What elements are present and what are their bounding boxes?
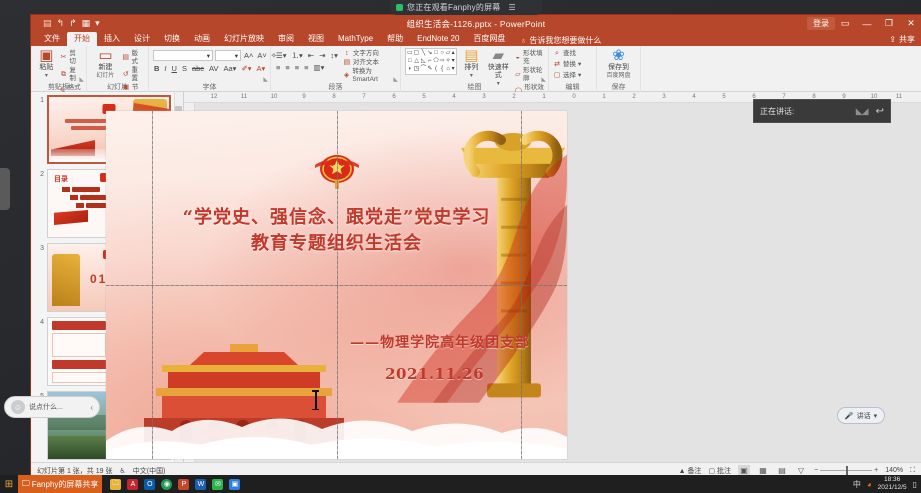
shape-square-icon: □	[433, 50, 438, 57]
chevron-down-icon[interactable]: ▾	[470, 73, 473, 80]
find-button[interactable]: ⌕查找	[553, 50, 581, 58]
tab-endnote[interactable]: EndNote 20	[410, 32, 466, 46]
windows-taskbar[interactable]: ⊞ 🖵 Fanphy的屏幕共享 🗀 A O ◉ P W ✉ ▣ 中 ◕ 18:3…	[0, 475, 921, 493]
tab-review[interactable]: 审阅	[271, 32, 301, 46]
shape-lshape-icon: ⌐	[427, 58, 432, 65]
lightbulb-icon: ♁	[520, 36, 526, 45]
accessibility-icon[interactable]: ♿	[119, 467, 125, 475]
ruler-tick: 4	[692, 94, 695, 100]
tab-help[interactable]: 帮助	[380, 32, 410, 46]
ruler-tick: 11	[241, 94, 247, 100]
copy-icon: ⧉	[60, 71, 68, 79]
shape-box-icon: □	[407, 58, 413, 65]
ruler-tick: 2	[632, 94, 635, 100]
bullets-button[interactable]: ☰▾	[275, 51, 288, 60]
comments-label: 批注	[717, 468, 731, 475]
paste-label: 粘贴	[39, 64, 53, 72]
ribbon-group-drawing: ▭▢╲ ↘□○ ▱▴ □△◺ ⌐⬠⇨ ✧▾ ◗◳⌒ ✎({ ⌂▾ ▤ 排列 ▾	[401, 46, 549, 92]
microphone-icon: 🎤	[845, 412, 854, 420]
ruler-tick: 7	[362, 94, 365, 100]
new-slide-label2: 幻灯片	[96, 73, 114, 80]
ribbon: ▣ 粘贴 ▾ ✂剪切 ⧉复制 ✎格式刷 剪贴板 ◣ ▭	[31, 46, 921, 92]
save-icon[interactable]: ▤	[43, 19, 52, 28]
convert-smartart-button[interactable]: ◈转换为 SmartArt	[343, 68, 396, 84]
title-bar: ▤ ↰ ↱ ▦ ▾ 组织生活会-1126.pptx - PowerPoint 登…	[31, 15, 921, 32]
ruler-tick: 0	[572, 94, 575, 100]
italic-button[interactable]: I	[163, 64, 167, 73]
align-left-button[interactable]: ≡	[275, 63, 281, 72]
group-label-editing: 编辑	[549, 83, 596, 92]
guide-vertical	[152, 111, 153, 459]
file-explorer-icon[interactable]: 🗀	[110, 479, 121, 490]
word-icon[interactable]: W	[195, 479, 206, 490]
font-name-combo[interactable]: ▾	[153, 50, 213, 61]
screen-share-banner[interactable]: 您正在观看Fanphy的屏幕 ☰	[390, 0, 542, 15]
ruler-tick: 5	[722, 94, 725, 100]
thumbnail-heading: 01	[90, 272, 107, 286]
chevron-down-icon[interactable]: ▾	[95, 19, 100, 28]
tab-animations[interactable]: 动画	[187, 32, 217, 46]
user-avatar: ☺	[11, 400, 25, 414]
scroll-up-icon: ▴	[452, 50, 455, 57]
text-direction-label: 文字方向	[353, 50, 379, 58]
tab-file[interactable]: 文件	[37, 32, 67, 46]
cut-label: 剪切	[69, 50, 82, 66]
group-label-font: 字体	[149, 83, 270, 92]
ruler-tick: 4	[452, 94, 455, 100]
reset-icon: ↺	[122, 71, 130, 79]
chevron-icon[interactable]: ▾	[874, 412, 878, 420]
reset-button[interactable]: ↺重置	[122, 67, 144, 83]
speaking-panel[interactable]: 正在讲话: ◣◢ ↩	[753, 99, 891, 123]
chat-placeholder: 说点什么...	[29, 402, 63, 412]
ruler-tick: 3	[482, 94, 485, 100]
layout-button[interactable]: ▤版式	[122, 50, 144, 66]
shape-rect-icon: ▭	[407, 50, 413, 57]
quick-styles-label: 快速样式	[486, 64, 511, 80]
group-label-drawing: 绘图	[401, 83, 548, 92]
window-title: 组织生活会-1126.pptx - PowerPoint	[31, 18, 921, 30]
tab-design[interactable]: 设计	[127, 32, 157, 46]
chrome-icon[interactable]: ◉	[161, 479, 172, 490]
shape-brace-icon: {	[440, 66, 445, 73]
taskbar-item-screen-share[interactable]: 🖵 Fanphy的屏幕共享	[18, 475, 102, 493]
taskbar-item-label: Fanphy的屏幕共享	[32, 479, 99, 490]
chevron-down-icon[interactable]: ▾	[235, 52, 238, 60]
powerpoint-window: ▤ ↰ ↱ ▦ ▾ 组织生活会-1126.pptx - PowerPoint 登…	[31, 15, 921, 478]
shape-pentagon-icon: ⬠	[433, 58, 438, 65]
ruler-tick: 6	[392, 94, 395, 100]
wechat-icon[interactable]: ✉	[212, 479, 223, 490]
replace-button[interactable]: ⇄替换▾	[553, 61, 581, 69]
undo-icon[interactable]: ↰	[57, 19, 65, 28]
shape-oval-icon: ○	[440, 50, 445, 57]
shape-line-icon: ╲	[420, 50, 426, 57]
zoom-in-button[interactable]: +	[874, 467, 878, 474]
shape-curve-icon: ⌒	[420, 66, 426, 73]
layout-icon: ▤	[122, 54, 130, 62]
shapes-more-icon: ▾	[452, 66, 455, 73]
thumbnail-number: 1	[34, 95, 44, 104]
tab-baidu-netdisk[interactable]: 百度网盘	[466, 32, 512, 46]
replace-label: 替换	[563, 61, 576, 69]
thumbnail-number: 3	[34, 243, 44, 252]
tab-slideshow[interactable]: 幻灯片放映	[217, 32, 271, 46]
align-text-icon: ▤	[343, 59, 351, 67]
notes-label: 备注	[687, 468, 701, 475]
group-label-slides: 幻灯片	[87, 83, 148, 92]
quick-access-toolbar[interactable]: ▤ ↰ ↱ ▦ ▾	[31, 19, 100, 28]
meeting-side-tab[interactable]	[0, 168, 10, 210]
ruler-tick: 8	[332, 94, 335, 100]
slide-title-line2: 教育专题组织生活会	[134, 231, 540, 257]
save-to-baidu-button[interactable]: ❀ 保存到 百度网盘	[601, 48, 636, 80]
shape-callout-icon: ⌂	[446, 66, 451, 73]
shape-bracket-icon: (	[433, 66, 438, 73]
tab-view[interactable]: 视图	[301, 32, 331, 46]
zoom-handle[interactable]	[846, 466, 848, 475]
notification-icon[interactable]: ◕	[867, 480, 872, 489]
shape-freeform-icon: ✎	[427, 66, 432, 73]
list-icon[interactable]: ☰	[508, 3, 515, 12]
share-icon: ⇪	[889, 35, 896, 44]
decrease-font-size-icon[interactable]: A˅	[256, 51, 267, 60]
shape-chevron-icon: ⇨	[440, 58, 445, 65]
ruler-tick: 11	[896, 94, 902, 100]
tencent-meeting-icon[interactable]: ▣	[229, 479, 240, 490]
zoom-slider[interactable]: − +	[814, 467, 878, 474]
ribbon-group-font: ▾ ▾ A˄ A˅ ✧ B I U S abc	[149, 46, 271, 92]
group-label-paragraph: 段落	[271, 83, 400, 92]
thumbnail-number: 4	[34, 317, 44, 326]
zoom-out-button[interactable]: −	[814, 467, 818, 474]
ruler-tick: 10	[271, 94, 278, 100]
slide-subtitle[interactable]: ——物理学院高年级团支部	[350, 332, 530, 352]
window-controls[interactable]: ▭ — ❐ ✕	[839, 15, 917, 32]
minimize-button[interactable]: —	[861, 19, 873, 29]
bold-button[interactable]: B	[153, 64, 160, 73]
ruler-tick: 5	[422, 94, 425, 100]
clipboard-dialog-launcher[interactable]: ◣	[79, 76, 84, 83]
zoom-track[interactable]	[820, 470, 872, 471]
align-text-label: 对齐文本	[353, 59, 379, 67]
numbering-button[interactable]: ⒈▾	[291, 51, 304, 60]
smartart-icon: ◈	[343, 72, 350, 80]
quick-style-icon: ▰	[492, 48, 504, 63]
outlook-icon[interactable]: O	[144, 479, 155, 490]
justify-button[interactable]: ≡	[303, 63, 309, 72]
fit-slide-icon[interactable]: ⛶	[910, 467, 915, 475]
layout-label: 版式	[132, 50, 144, 66]
audio-wave-icon: ◣◢	[856, 106, 868, 117]
ruler-tick: 3	[662, 94, 665, 100]
ruler-tick: 1	[602, 94, 605, 100]
arrange-button[interactable]: ▤ 排列 ▾	[461, 48, 482, 80]
select-label: 选择	[563, 72, 576, 80]
slide-counter: 幻灯片第 1 张，共 19 张	[37, 466, 112, 476]
font-dialog-launcher[interactable]: ◣	[263, 76, 268, 83]
shape-arrow-icon: ↘	[427, 50, 432, 57]
close-button[interactable]: ✕	[905, 18, 917, 29]
group-label-clipboard: 剪贴板	[31, 83, 86, 92]
shape-right-triangle-icon: ◺	[420, 58, 426, 65]
tell-me-label: 告诉我您想要做什么	[529, 35, 601, 46]
screen-share-icon: 🖵	[22, 479, 30, 489]
tab-mathtype[interactable]: MathType	[331, 32, 380, 46]
share-button[interactable]: ⇪ 共享	[889, 34, 915, 45]
shape-cylinder-icon: ◗	[407, 66, 413, 73]
ruler-tick: 2	[512, 94, 515, 100]
slideshow-icon[interactable]: ▦	[82, 19, 91, 28]
slide-date[interactable]: 2021.11.26	[385, 365, 484, 383]
system-tray[interactable]: 中 ◕ 18:36 2021/12/5 ▯	[853, 476, 921, 492]
zoom-level-label[interactable]: 140%	[885, 467, 903, 474]
screen-share-label: 您正在观看Fanphy的屏幕	[407, 2, 500, 13]
arrange-icon: ▤	[464, 48, 478, 63]
new-slide-label: 新建	[98, 64, 112, 72]
ruler-tick: 1	[542, 94, 545, 100]
character-spacing-button[interactable]: AV	[208, 64, 219, 73]
convert-smartart-label: 转换为 SmartArt	[352, 68, 396, 84]
shape-cube-icon: ◳	[414, 66, 420, 73]
ribbon-group-paragraph: ☰▾ ⒈▾ ⇤ ⇥ ↕▾ ≡ ≡ ≡ ≡ ▥▾	[271, 46, 401, 92]
font-color-button[interactable]: A▾	[256, 64, 267, 73]
save-to-baidu-label2: 百度网盘	[606, 73, 630, 80]
clipboard-icon: ▣	[39, 48, 53, 63]
align-center-button[interactable]: ≡	[284, 63, 290, 72]
tell-me-search[interactable]: ♁ 告诉我您想要做什么	[520, 35, 601, 46]
adobe-reader-icon[interactable]: A	[127, 479, 138, 490]
chevron-down-icon[interactable]: ▾	[45, 73, 48, 80]
clock-date: 2021/12/5	[878, 484, 907, 492]
speaking-label: 正在讲话:	[760, 106, 794, 117]
show-desktop-icon[interactable]: ▯	[913, 480, 917, 489]
taskbar-clock[interactable]: 18:36 2021/12/5	[878, 476, 907, 492]
shape-triangle-icon: △	[414, 58, 420, 65]
drawing-dialog-launcher[interactable]: ◣	[541, 76, 546, 83]
taskbar-pinned-apps[interactable]: 🗀 A O ◉ P W ✉ ▣	[102, 479, 240, 490]
signin-label: 登录	[813, 18, 829, 29]
restore-button[interactable]: ❐	[883, 18, 895, 29]
shape-fill-button[interactable]: ◒形状填充	[515, 50, 544, 66]
tab-transitions[interactable]: 切换	[157, 32, 187, 46]
select-icon: ▢	[553, 72, 561, 80]
slide-editor[interactable]: “学党史、强信念、跟党走”党史学习 教育专题组织生活会 ——物理学院高年级团支部…	[106, 111, 567, 459]
clock-time: 18:36	[878, 476, 907, 484]
ribbon-display-options-icon[interactable]: ▭	[839, 18, 851, 29]
line-spacing-button[interactable]: ↕▾	[329, 51, 339, 60]
shape-outline-icon: ▱	[515, 71, 521, 79]
shape-fill-icon: ◒	[515, 54, 521, 62]
tab-insert[interactable]: 插入	[97, 32, 127, 46]
thumbnail-heading: 目录	[54, 174, 68, 184]
baidu-netdisk-icon: ❀	[612, 48, 625, 63]
shape-rounded-icon: ▢	[414, 50, 420, 57]
slide-title[interactable]: “学党史、强信念、跟党走”党史学习 教育专题组织生活会	[134, 205, 540, 257]
powerpoint-icon[interactable]: P	[178, 479, 189, 490]
tab-home[interactable]: 开始	[67, 32, 97, 46]
ruler-tick: 9	[302, 94, 305, 100]
text-highlight-button[interactable]: ✐▾	[240, 64, 252, 73]
increase-font-size-icon[interactable]: A˄	[243, 51, 254, 60]
scissors-icon: ✂	[60, 54, 68, 62]
reset-label: 重置	[132, 67, 144, 83]
chevron-down-icon[interactable]: ▾	[207, 52, 210, 60]
thumbnail-number: 2	[34, 169, 44, 178]
underline-button[interactable]: U	[171, 64, 178, 73]
select-button[interactable]: ▢选择▾	[553, 72, 581, 80]
text-shadow-button[interactable]: S	[181, 64, 188, 73]
cut-button[interactable]: ✂剪切	[60, 50, 82, 66]
ribbon-group-editing: ⌕查找 ⇄替换▾ ▢选择▾ 编辑	[549, 46, 597, 92]
signin-button[interactable]: 登录	[807, 17, 835, 30]
input-method-icon[interactable]: 中	[853, 479, 861, 490]
ribbon-group-baidu: ❀ 保存到 百度网盘 保存	[597, 46, 641, 92]
mic-pill-label: 讲话	[857, 411, 871, 421]
guide-vertical	[521, 111, 522, 459]
search-icon: ⌕	[553, 50, 561, 58]
shapes-gallery[interactable]: ▭▢╲ ↘□○ ▱▴ □△◺ ⌐⬠⇨ ✧▾ ◗◳⌒ ✎({ ⌂▾	[405, 48, 457, 75]
meeting-chat-bubble[interactable]: ☺ 说点什么... ‹	[4, 396, 100, 418]
ruler-tick: 12	[211, 94, 218, 100]
quick-styles-button[interactable]: ▰ 快速样式 ▾	[486, 48, 511, 88]
start-icon[interactable]: ⊞	[0, 479, 18, 490]
replace-icon: ⇄	[553, 61, 561, 69]
chevron-left-icon[interactable]: ‹	[90, 403, 93, 412]
language-label[interactable]: 中文(中国)	[133, 466, 166, 476]
new-slide-button[interactable]: ▭ 新建 幻灯片	[91, 48, 120, 80]
work-area: 1 2	[31, 92, 921, 462]
ribbon-group-slides: ▭ 新建 幻灯片 ▤版式 ↺重置 ▣节 幻灯片	[87, 46, 149, 92]
shape-scroll-icon: ▱	[446, 50, 451, 57]
columns-button[interactable]: ▥▾	[313, 63, 326, 72]
group-label-baidu: 保存	[597, 83, 640, 92]
find-label: 查找	[563, 50, 576, 58]
increase-indent-button[interactable]: ⇥	[318, 51, 326, 60]
guide-horizontal	[106, 285, 567, 286]
comments-button[interactable]: ▢ 批注	[708, 466, 731, 476]
text-direction-icon: ↕	[343, 50, 351, 58]
recording-indicator-icon	[396, 4, 403, 11]
shape-star-icon: ✧	[446, 58, 451, 65]
new-slide-icon: ▭	[98, 48, 112, 63]
save-to-baidu-label: 保存到	[608, 64, 629, 72]
shape-outline-button[interactable]: ▱形状轮廓	[515, 67, 544, 83]
back-arrow-icon[interactable]: ↩	[876, 106, 884, 117]
font-size-combo[interactable]: ▾	[215, 50, 241, 61]
ribbon-tabs[interactable]: 文件 开始 插入 设计 切换 动画 幻灯片放映 审阅 视图 MathType 帮…	[31, 32, 921, 46]
decrease-indent-button[interactable]: ⇤	[307, 51, 315, 60]
text-direction-button[interactable]: ↕文字方向	[343, 50, 396, 58]
share-label: 共享	[899, 34, 915, 45]
paragraph-dialog-launcher[interactable]: ◣	[393, 76, 398, 83]
ribbon-group-clipboard: ▣ 粘贴 ▾ ✂剪切 ⧉复制 ✎格式刷 剪贴板 ◣	[31, 46, 87, 92]
strikethrough-button[interactable]: abc	[191, 64, 205, 73]
redo-icon[interactable]: ↱	[69, 19, 77, 28]
change-case-button[interactable]: Aa▾	[223, 64, 238, 73]
meeting-mic-pill[interactable]: 🎤 讲话 ▾	[837, 407, 885, 424]
shape-fill-label: 形状填充	[523, 50, 544, 66]
align-right-button[interactable]: ≡	[294, 63, 300, 72]
text-ibeam-cursor	[312, 390, 319, 410]
arrange-label: 排列	[464, 64, 478, 72]
align-text-button[interactable]: ▤对齐文本	[343, 59, 396, 67]
slide-title-line1: “学党史、强信念、跟党走”党史学习	[134, 205, 540, 231]
notes-button[interactable]: ▲ 备注	[679, 466, 702, 476]
screen: 您正在观看Fanphy的屏幕 ☰ ▤ ↰ ↱ ▦ ▾ 组织生活会-1126.pp…	[0, 0, 921, 493]
paste-button[interactable]: ▣ 粘贴 ▾	[35, 48, 58, 80]
scroll-down-icon: ▾	[452, 58, 455, 65]
